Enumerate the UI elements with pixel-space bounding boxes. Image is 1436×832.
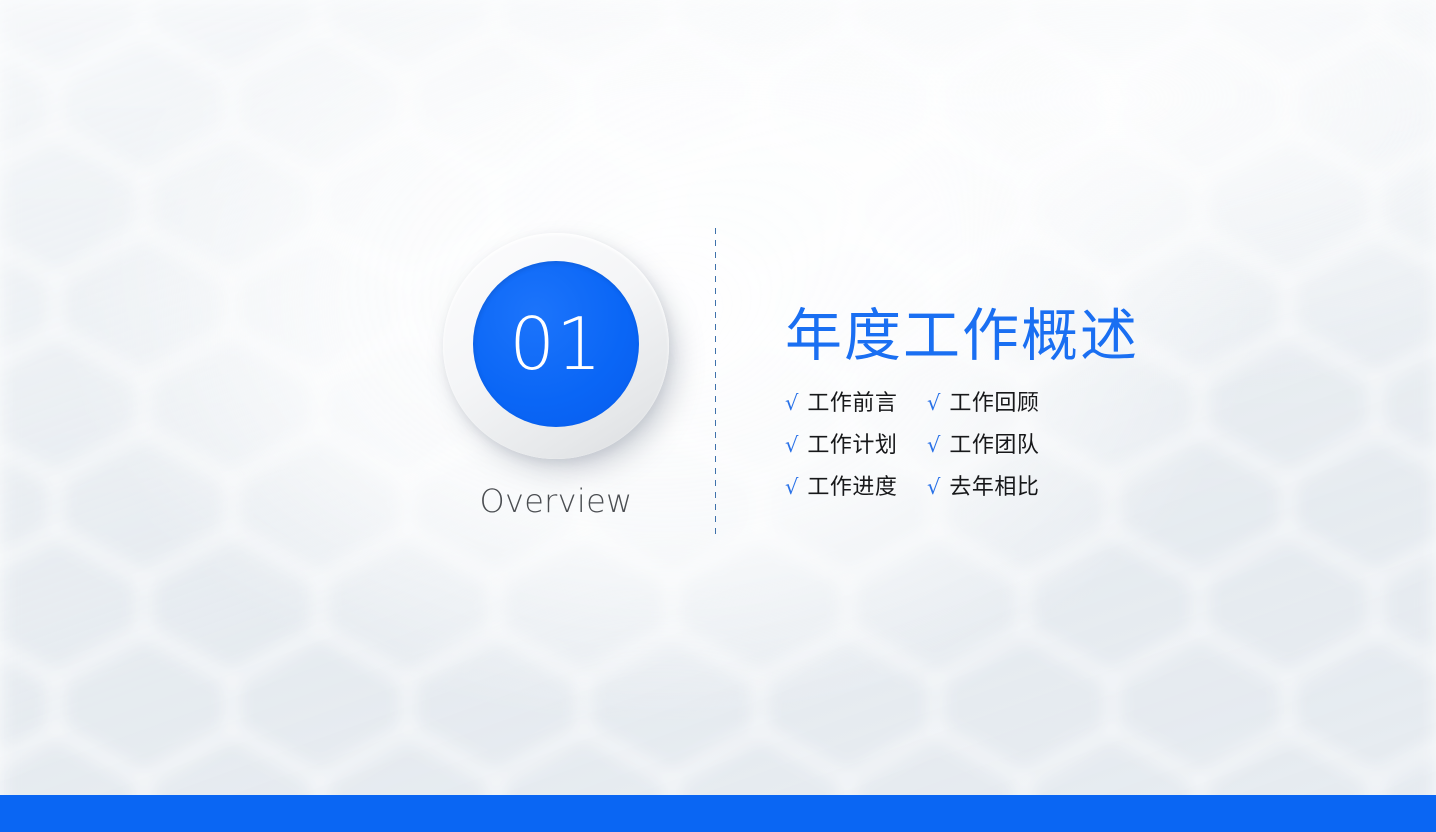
- list-item[interactable]: √ 工作团队: [927, 433, 1069, 457]
- check-icon: √: [785, 477, 798, 498]
- check-icon: √: [785, 393, 798, 414]
- list-item[interactable]: √ 工作回顾: [927, 391, 1069, 415]
- vertical-dashed-divider: [715, 228, 716, 540]
- check-icon: √: [927, 393, 940, 414]
- check-icon: √: [785, 435, 798, 456]
- badge-inner-circle: 01: [473, 261, 639, 427]
- list-item-label: 去年相比: [949, 475, 1039, 499]
- check-icon: √: [927, 477, 940, 498]
- slide-canvas: 01 Overview 年度工作概述 √ 工作前言 √ 工作回顾 √ 工作计划 …: [0, 0, 1436, 832]
- section-number-badge: 01: [443, 233, 669, 459]
- bullet-list: √ 工作前言 √ 工作回顾 √ 工作计划 √ 工作团队 √ 工作进度 √ 去年相…: [785, 391, 1345, 500]
- list-item-label: 工作前言: [807, 391, 897, 415]
- list-item[interactable]: √ 去年相比: [927, 475, 1069, 499]
- list-item-label: 工作团队: [949, 433, 1039, 457]
- section-number-text: 01: [509, 308, 603, 380]
- bottom-accent-bar: [0, 795, 1436, 832]
- list-item-label: 工作计划: [807, 433, 897, 457]
- page-title: 年度工作概述: [785, 305, 1345, 369]
- list-item-label: 工作进度: [807, 475, 897, 499]
- section-caption: Overview: [443, 482, 669, 520]
- section-content: 年度工作概述 √ 工作前言 √ 工作回顾 √ 工作计划 √ 工作团队 √ 工作进…: [785, 305, 1345, 499]
- check-icon: √: [927, 435, 940, 456]
- list-item[interactable]: √ 工作前言: [785, 391, 927, 415]
- list-item[interactable]: √ 工作进度: [785, 475, 927, 499]
- list-item-label: 工作回顾: [949, 391, 1039, 415]
- list-item[interactable]: √ 工作计划: [785, 433, 927, 457]
